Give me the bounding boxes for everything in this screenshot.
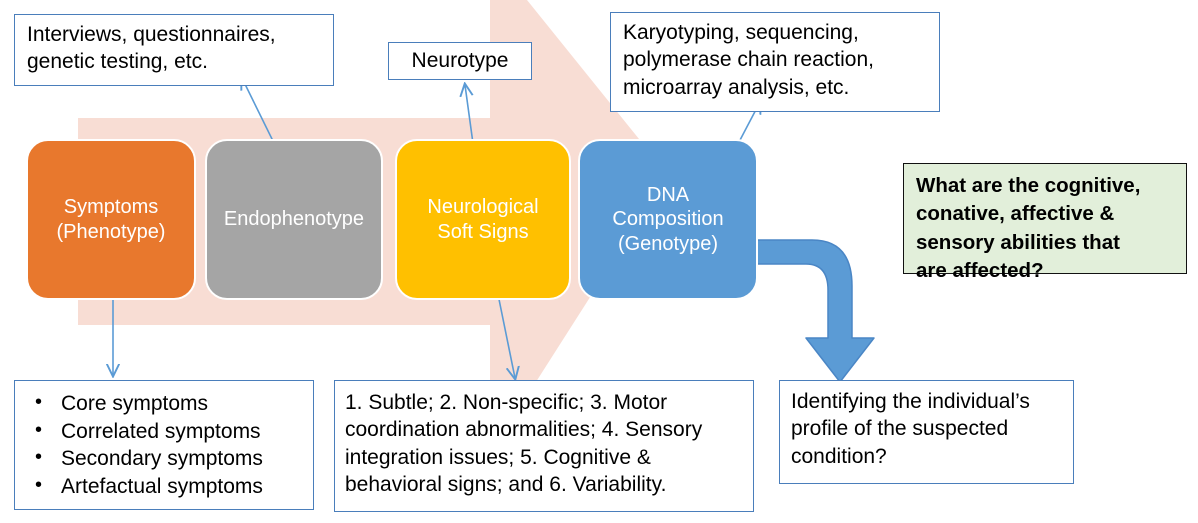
callout-methods-phenotype-line1: Interviews, questionnaires, <box>27 21 323 48</box>
callout-outcome-question: Identifying the individual’s profile of … <box>779 380 1074 484</box>
block-dna-line1: DNA <box>612 183 723 207</box>
question-abilities-line4: are affected? <box>916 257 1176 285</box>
question-abilities-line2: conative, affective & <box>916 200 1176 228</box>
callout-methods-genotype-line3: microarray analysis, etc. <box>623 74 929 101</box>
question-box-abilities: What are the cognitive, conative, affect… <box>903 163 1187 274</box>
list-item: Correlated symptoms <box>21 418 307 446</box>
block-symptoms[interactable]: Symptoms (Phenotype) <box>26 139 196 300</box>
callout-methods-phenotype-line2: genetic testing, etc. <box>27 48 323 75</box>
block-endophenotype-line1: Endophenotype <box>224 207 364 231</box>
symptom-types-list: Core symptoms Correlated symptoms Second… <box>21 390 307 501</box>
callout-neurotype-label: Neurotype <box>412 47 509 74</box>
blue-elbow-arrow <box>756 240 874 382</box>
block-nss-text: Neurological Soft Signs <box>427 195 538 244</box>
callout-neurotype: Neurotype <box>388 42 532 80</box>
block-dna-line2: Composition <box>612 207 723 231</box>
block-endophenotype[interactable]: Endophenotype <box>205 139 383 300</box>
block-nss-line2: Soft Signs <box>427 220 538 244</box>
block-symptoms-text: Symptoms (Phenotype) <box>57 195 166 244</box>
block-symptoms-line2: (Phenotype) <box>57 220 166 244</box>
diagram-canvas: Interviews, questionnaires, genetic test… <box>0 0 1198 523</box>
question-abilities-line1: What are the cognitive, <box>916 172 1176 200</box>
outcome-question-line1: Identifying the individual’s <box>791 388 1065 415</box>
block-endophenotype-text: Endophenotype <box>224 207 364 231</box>
block-dna-line3: (Genotype) <box>612 232 723 256</box>
block-nss-line1: Neurological <box>427 195 538 219</box>
nss-features-line1: 1. Subtle; 2. Non-specific; 3. Motor <box>345 389 745 416</box>
callout-methods-genotype: Karyotyping, sequencing, polymerase chai… <box>610 12 940 112</box>
list-item: Secondary symptoms <box>21 445 307 473</box>
callout-nss-features: 1. Subtle; 2. Non-specific; 3. Motor coo… <box>334 380 754 512</box>
nss-features-line2: coordination abnormalities; 4. Sensory <box>345 416 745 443</box>
callout-methods-genotype-line1: Karyotyping, sequencing, <box>623 19 929 46</box>
nss-features-line4: behavioral signs; and 6. Variability. <box>345 471 745 498</box>
callout-methods-phenotype: Interviews, questionnaires, genetic test… <box>14 14 334 86</box>
question-abilities-line3: sensory abilities that <box>916 229 1176 257</box>
outcome-question-line3: condition? <box>791 443 1065 470</box>
block-neurological-soft-signs[interactable]: Neurological Soft Signs <box>395 139 571 300</box>
block-dna-composition[interactable]: DNA Composition (Genotype) <box>578 139 758 300</box>
nss-features-line3: integration issues; 5. Cognitive & <box>345 444 745 471</box>
list-item: Artefactual symptoms <box>21 473 307 501</box>
block-symptoms-line1: Symptoms <box>57 195 166 219</box>
outcome-question-line2: profile of the suspected <box>791 415 1065 442</box>
block-dna-text: DNA Composition (Genotype) <box>612 183 723 256</box>
list-item: Core symptoms <box>21 390 307 418</box>
callout-methods-genotype-line2: polymerase chain reaction, <box>623 46 929 73</box>
callout-symptom-types: Core symptoms Correlated symptoms Second… <box>14 380 314 510</box>
